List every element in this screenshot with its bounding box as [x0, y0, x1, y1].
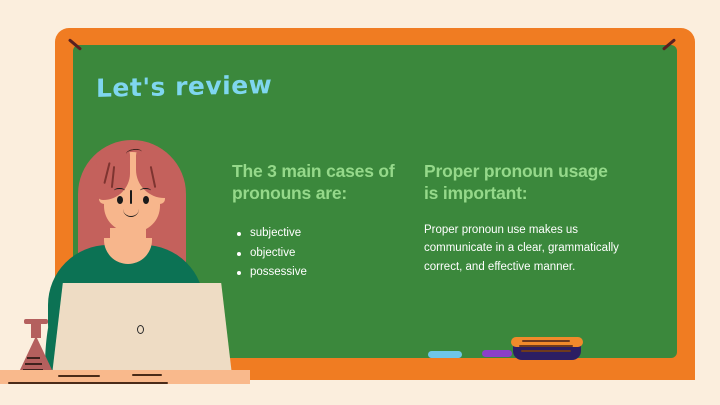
neck — [110, 228, 146, 262]
eye-right — [143, 196, 149, 204]
student-illustration — [0, 0, 260, 405]
desk-wood-grain — [130, 382, 168, 384]
pencil-case-stripe — [519, 345, 573, 347]
chalk-stick-purple — [482, 350, 512, 357]
eye-left — [117, 196, 123, 204]
desk-wood-grain — [132, 374, 162, 376]
pencil-case-stripe — [521, 350, 571, 352]
flask-measure-line — [25, 363, 42, 365]
chalk-stick-blue — [428, 351, 462, 358]
laptop-logo-icon — [137, 325, 144, 334]
pencil-case-stripe — [522, 340, 570, 342]
nose — [130, 190, 132, 204]
flask-body — [19, 336, 53, 372]
flask-measure-line — [27, 357, 40, 359]
desk-wood-grain — [58, 375, 100, 377]
column-right: Proper pronoun usage is important: Prope… — [424, 160, 624, 277]
desk-front — [0, 384, 250, 405]
column-right-heading: Proper pronoun usage is important: — [424, 160, 624, 205]
desk-wood-grain — [8, 382, 133, 384]
eyebrow-right — [140, 188, 151, 193]
column-right-body: Proper pronoun use makes us communicate … — [424, 221, 624, 277]
slide-canvas: Let's review The 3 main cases of pronoun… — [0, 0, 720, 405]
eyebrow-left — [114, 188, 125, 193]
